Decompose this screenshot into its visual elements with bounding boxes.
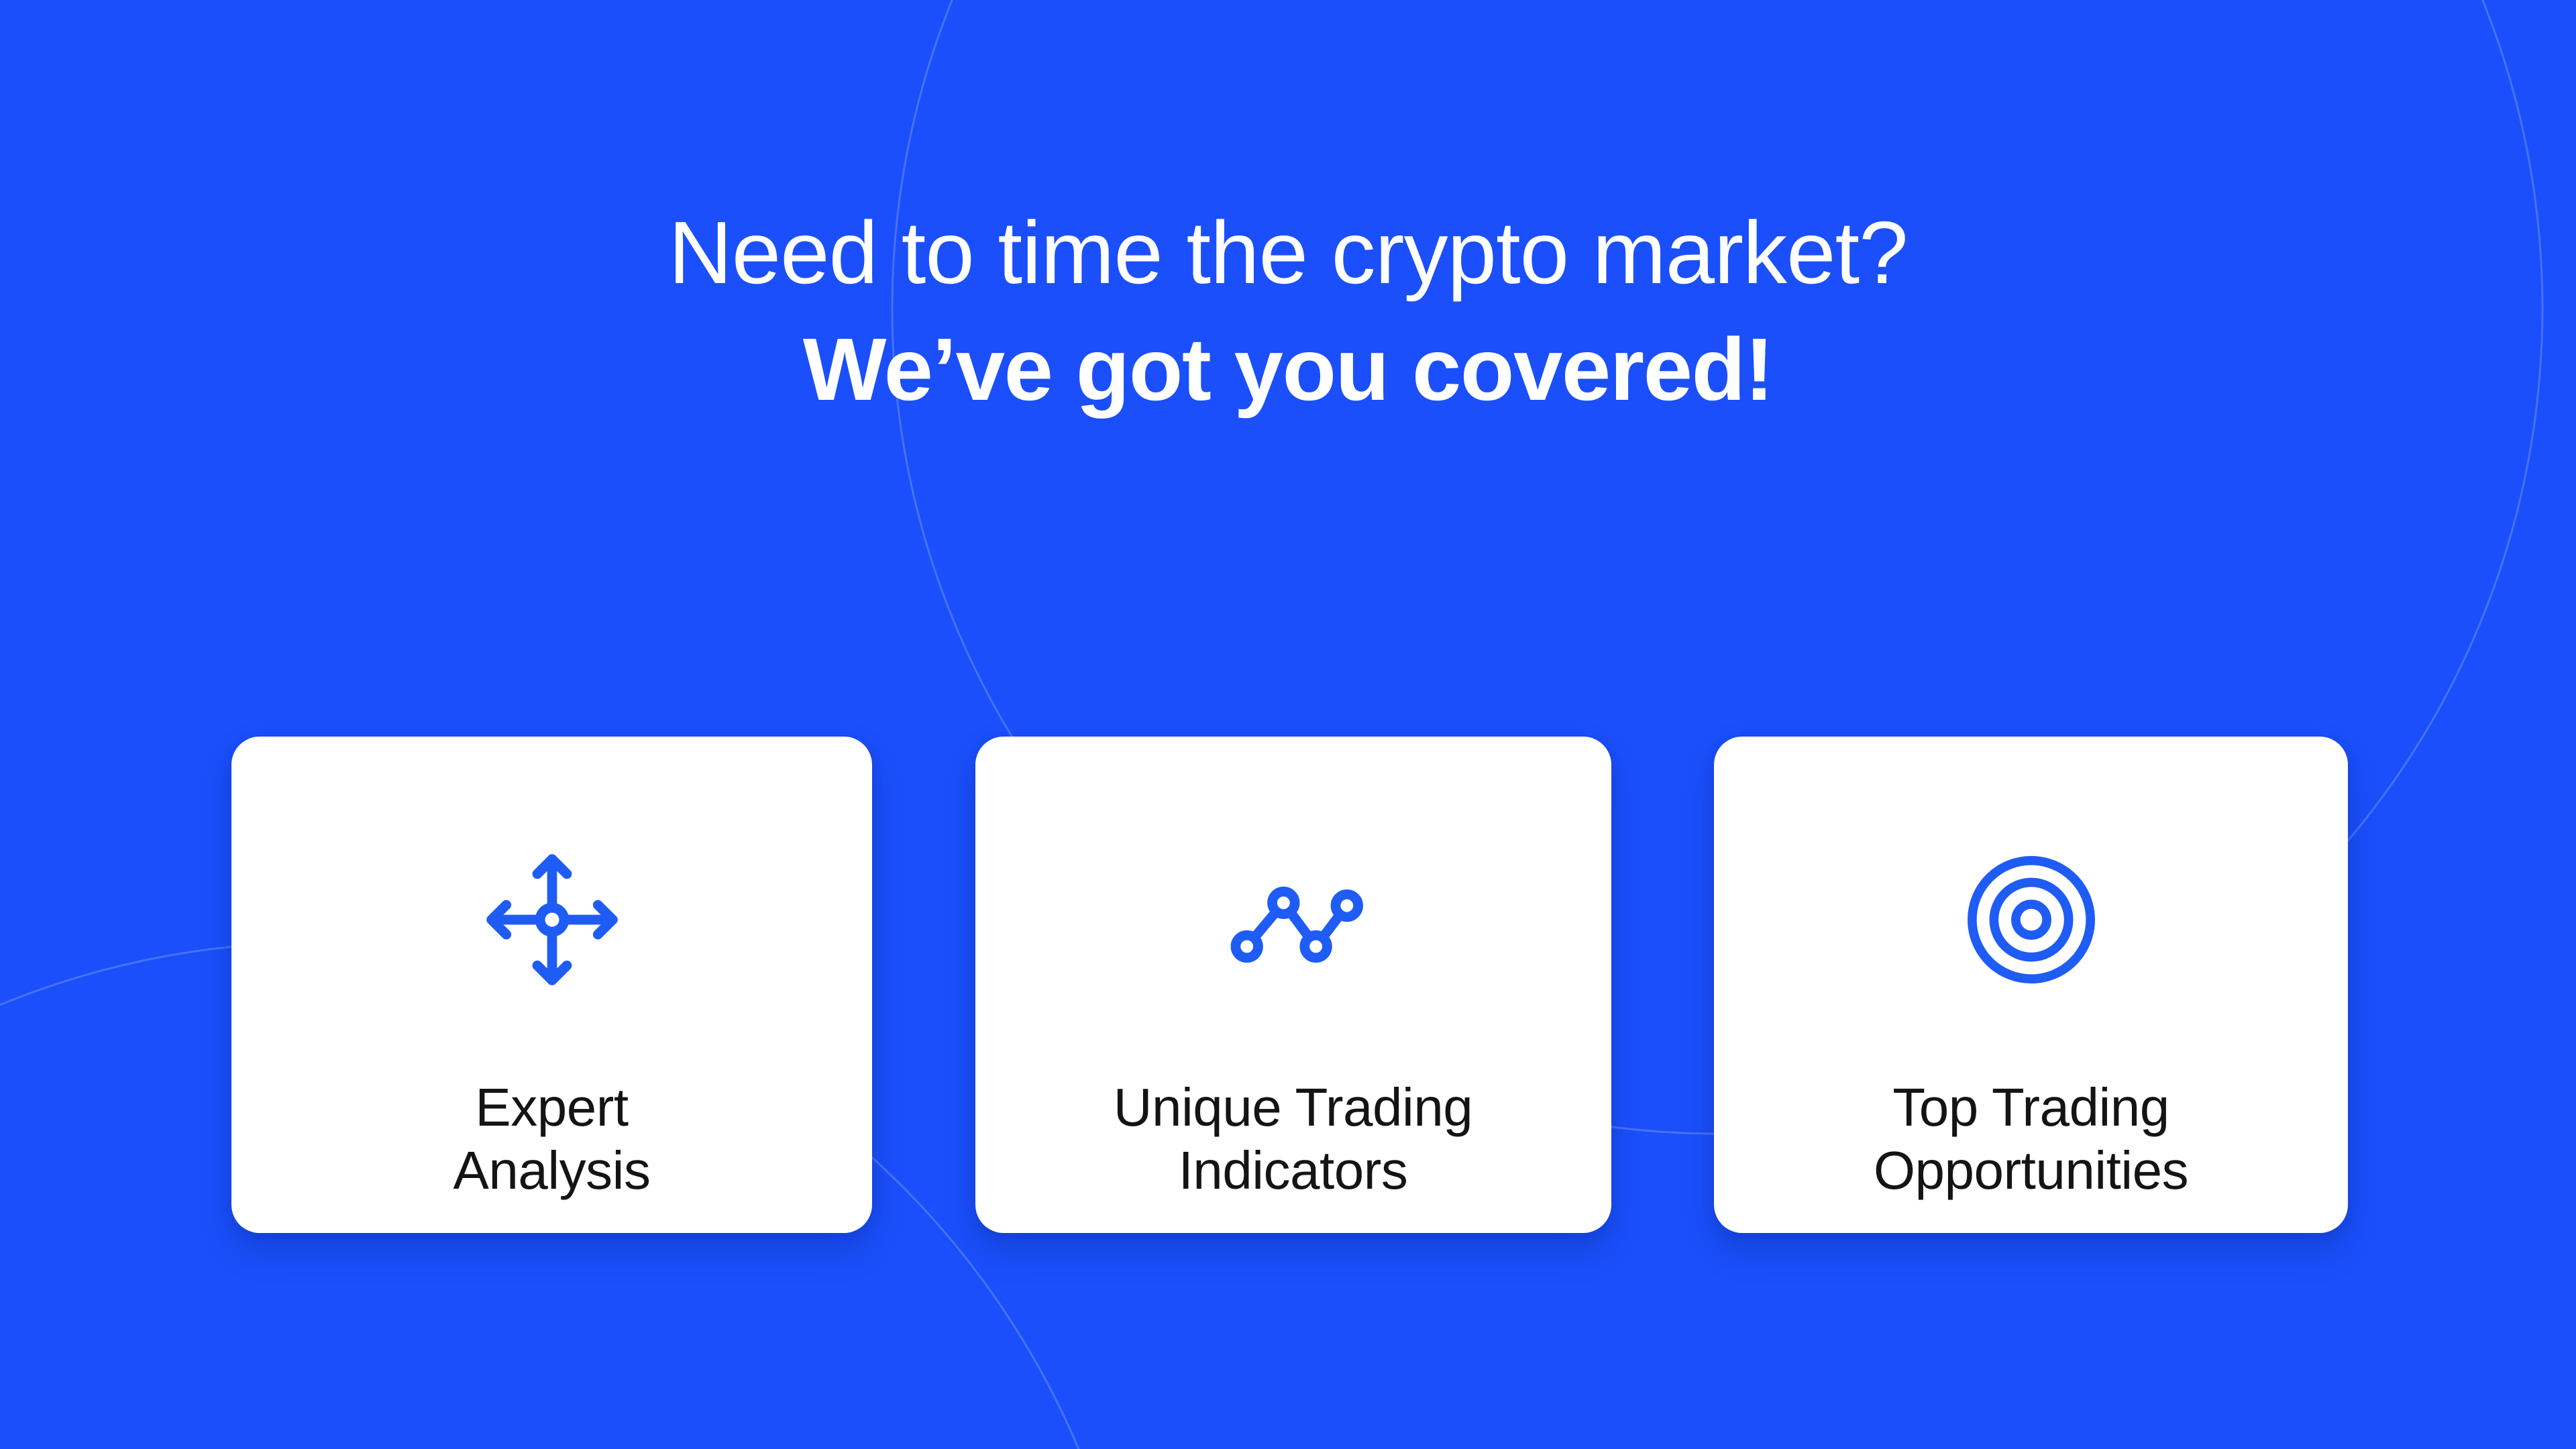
headline: Need to time the crypto market? We’ve go… (0, 195, 2576, 428)
feature-card-list: Expert Analysis Unique Trading Indicator… (231, 737, 2348, 1233)
feature-card-unique-trading-indicators[interactable]: Unique Trading Indicators (975, 737, 1611, 1233)
feature-card-top-trading-opportunities[interactable]: Top Trading Opportunities (1714, 737, 2348, 1233)
feature-card-label: Top Trading Opportunities (1874, 1076, 2188, 1203)
headline-line-2: We’ve got you covered! (0, 311, 2576, 428)
four-way-arrows-icon (482, 849, 623, 990)
headline-line-1: Need to time the crypto market? (0, 195, 2576, 311)
target-bullseye-icon (1961, 849, 2102, 990)
line-chart-nodes-icon (1223, 849, 1364, 990)
feature-card-label: Unique Trading Indicators (1114, 1076, 1473, 1203)
feature-card-expert-analysis[interactable]: Expert Analysis (231, 737, 872, 1233)
feature-card-label: Expert Analysis (453, 1076, 651, 1203)
